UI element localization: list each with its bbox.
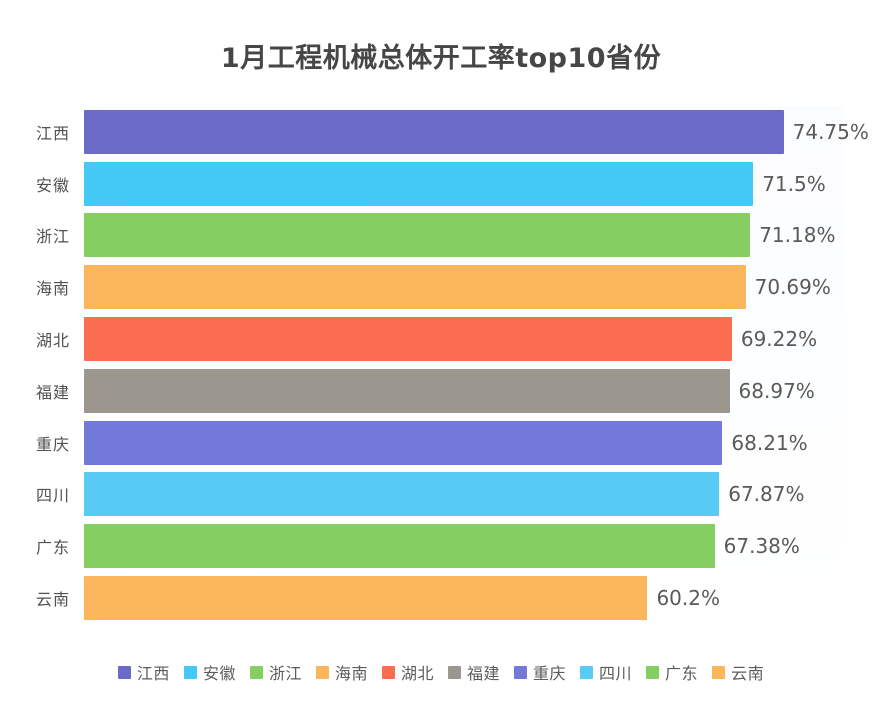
bar-row: 68.97%	[84, 365, 844, 417]
category-label: 江西	[36, 120, 70, 144]
bar-row: 67.38%	[84, 520, 844, 572]
chart-container: 1月工程机械总体开工率top10省份 江西安徽浙江海南湖北福建重庆四川广东云南 …	[0, 0, 882, 720]
legend-item[interactable]: 重庆	[514, 660, 566, 684]
category-axis: 江西安徽浙江海南湖北福建重庆四川广东云南	[0, 106, 84, 624]
bar[interactable]	[84, 421, 722, 465]
chart-legend: 江西安徽浙江海南湖北福建重庆四川广东云南	[0, 660, 882, 684]
category-label-row: 江西	[0, 106, 84, 158]
bar-row: 68.21%	[84, 417, 844, 469]
bar-track: 71.18%	[84, 210, 844, 262]
bar-value-label: 68.97%	[739, 379, 815, 403]
chart-title: 1月工程机械总体开工率top10省份	[0, 36, 882, 75]
category-label-row: 海南	[0, 261, 84, 313]
legend-label: 广东	[665, 660, 698, 684]
category-label-row: 湖北	[0, 313, 84, 365]
category-label: 重庆	[36, 431, 70, 455]
legend-swatch-icon	[184, 666, 197, 679]
category-label: 四川	[36, 482, 70, 506]
bar-row: 60.2%	[84, 572, 844, 624]
legend-label: 重庆	[533, 660, 566, 684]
bar-value-label: 60.2%	[656, 586, 720, 610]
legend-swatch-icon	[250, 666, 263, 679]
legend-swatch-icon	[316, 666, 329, 679]
category-label: 湖北	[36, 327, 70, 351]
category-label: 安徽	[36, 172, 70, 196]
bar-track: 70.69%	[84, 261, 844, 313]
legend-swatch-icon	[118, 666, 131, 679]
category-label-row: 安徽	[0, 158, 84, 210]
category-label-row: 四川	[0, 469, 84, 521]
category-label-row: 云南	[0, 572, 84, 624]
bar-track: 71.5%	[84, 158, 844, 210]
bar-row: 74.75%	[84, 106, 844, 158]
category-label: 海南	[36, 275, 70, 299]
legend-swatch-icon	[448, 666, 461, 679]
bar-row: 69.22%	[84, 313, 844, 365]
bar[interactable]	[84, 265, 746, 309]
legend-swatch-icon	[514, 666, 527, 679]
bar[interactable]	[84, 162, 753, 206]
legend-item[interactable]: 浙江	[250, 660, 302, 684]
legend-item[interactable]: 云南	[712, 660, 764, 684]
bar-value-label: 71.5%	[762, 172, 826, 196]
legend-label: 云南	[731, 660, 764, 684]
bar-value-label: 67.38%	[724, 534, 800, 558]
bar-track: 74.75%	[84, 106, 844, 158]
bar[interactable]	[84, 369, 730, 413]
legend-item[interactable]: 湖北	[382, 660, 434, 684]
legend-label: 浙江	[269, 660, 302, 684]
bar-track: 69.22%	[84, 313, 844, 365]
category-label-row: 重庆	[0, 417, 84, 469]
category-label-row: 浙江	[0, 210, 84, 262]
bar[interactable]	[84, 110, 784, 154]
bar-value-label: 74.75%	[793, 120, 869, 144]
bar-value-label: 70.69%	[755, 275, 831, 299]
legend-label: 四川	[599, 660, 632, 684]
legend-swatch-icon	[646, 666, 659, 679]
bar-track: 67.87%	[84, 469, 844, 521]
legend-label: 湖北	[401, 660, 434, 684]
plot-area: 74.75%71.5%71.18%70.69%69.22%68.97%68.21…	[84, 106, 844, 624]
category-label-row: 广东	[0, 520, 84, 572]
bar-value-label: 67.87%	[728, 482, 804, 506]
category-label-row: 福建	[0, 365, 84, 417]
legend-item[interactable]: 海南	[316, 660, 368, 684]
legend-item[interactable]: 福建	[448, 660, 500, 684]
bar-track: 60.2%	[84, 572, 844, 624]
bar-row: 71.18%	[84, 210, 844, 262]
legend-label: 福建	[467, 660, 500, 684]
bar[interactable]	[84, 576, 647, 620]
bar-value-label: 68.21%	[731, 431, 807, 455]
legend-swatch-icon	[712, 666, 725, 679]
legend-item[interactable]: 四川	[580, 660, 632, 684]
legend-item[interactable]: 安徽	[184, 660, 236, 684]
bar-value-label: 69.22%	[741, 327, 817, 351]
bar-row: 67.87%	[84, 469, 844, 521]
category-label: 云南	[36, 586, 70, 610]
bar-row: 70.69%	[84, 261, 844, 313]
bar-track: 68.21%	[84, 417, 844, 469]
bar[interactable]	[84, 317, 732, 361]
legend-item[interactable]: 广东	[646, 660, 698, 684]
bar[interactable]	[84, 524, 715, 568]
bar[interactable]	[84, 472, 719, 516]
bar-row: 71.5%	[84, 158, 844, 210]
legend-label: 安徽	[203, 660, 236, 684]
bar-value-label: 71.18%	[759, 223, 835, 247]
bar[interactable]	[84, 213, 750, 257]
category-label: 浙江	[36, 223, 70, 247]
legend-swatch-icon	[382, 666, 395, 679]
category-label: 福建	[36, 379, 70, 403]
bar-track: 67.38%	[84, 520, 844, 572]
legend-label: 海南	[335, 660, 368, 684]
bar-track: 68.97%	[84, 365, 844, 417]
legend-item[interactable]: 江西	[118, 660, 170, 684]
legend-swatch-icon	[580, 666, 593, 679]
legend-label: 江西	[137, 660, 170, 684]
category-label: 广东	[36, 534, 70, 558]
